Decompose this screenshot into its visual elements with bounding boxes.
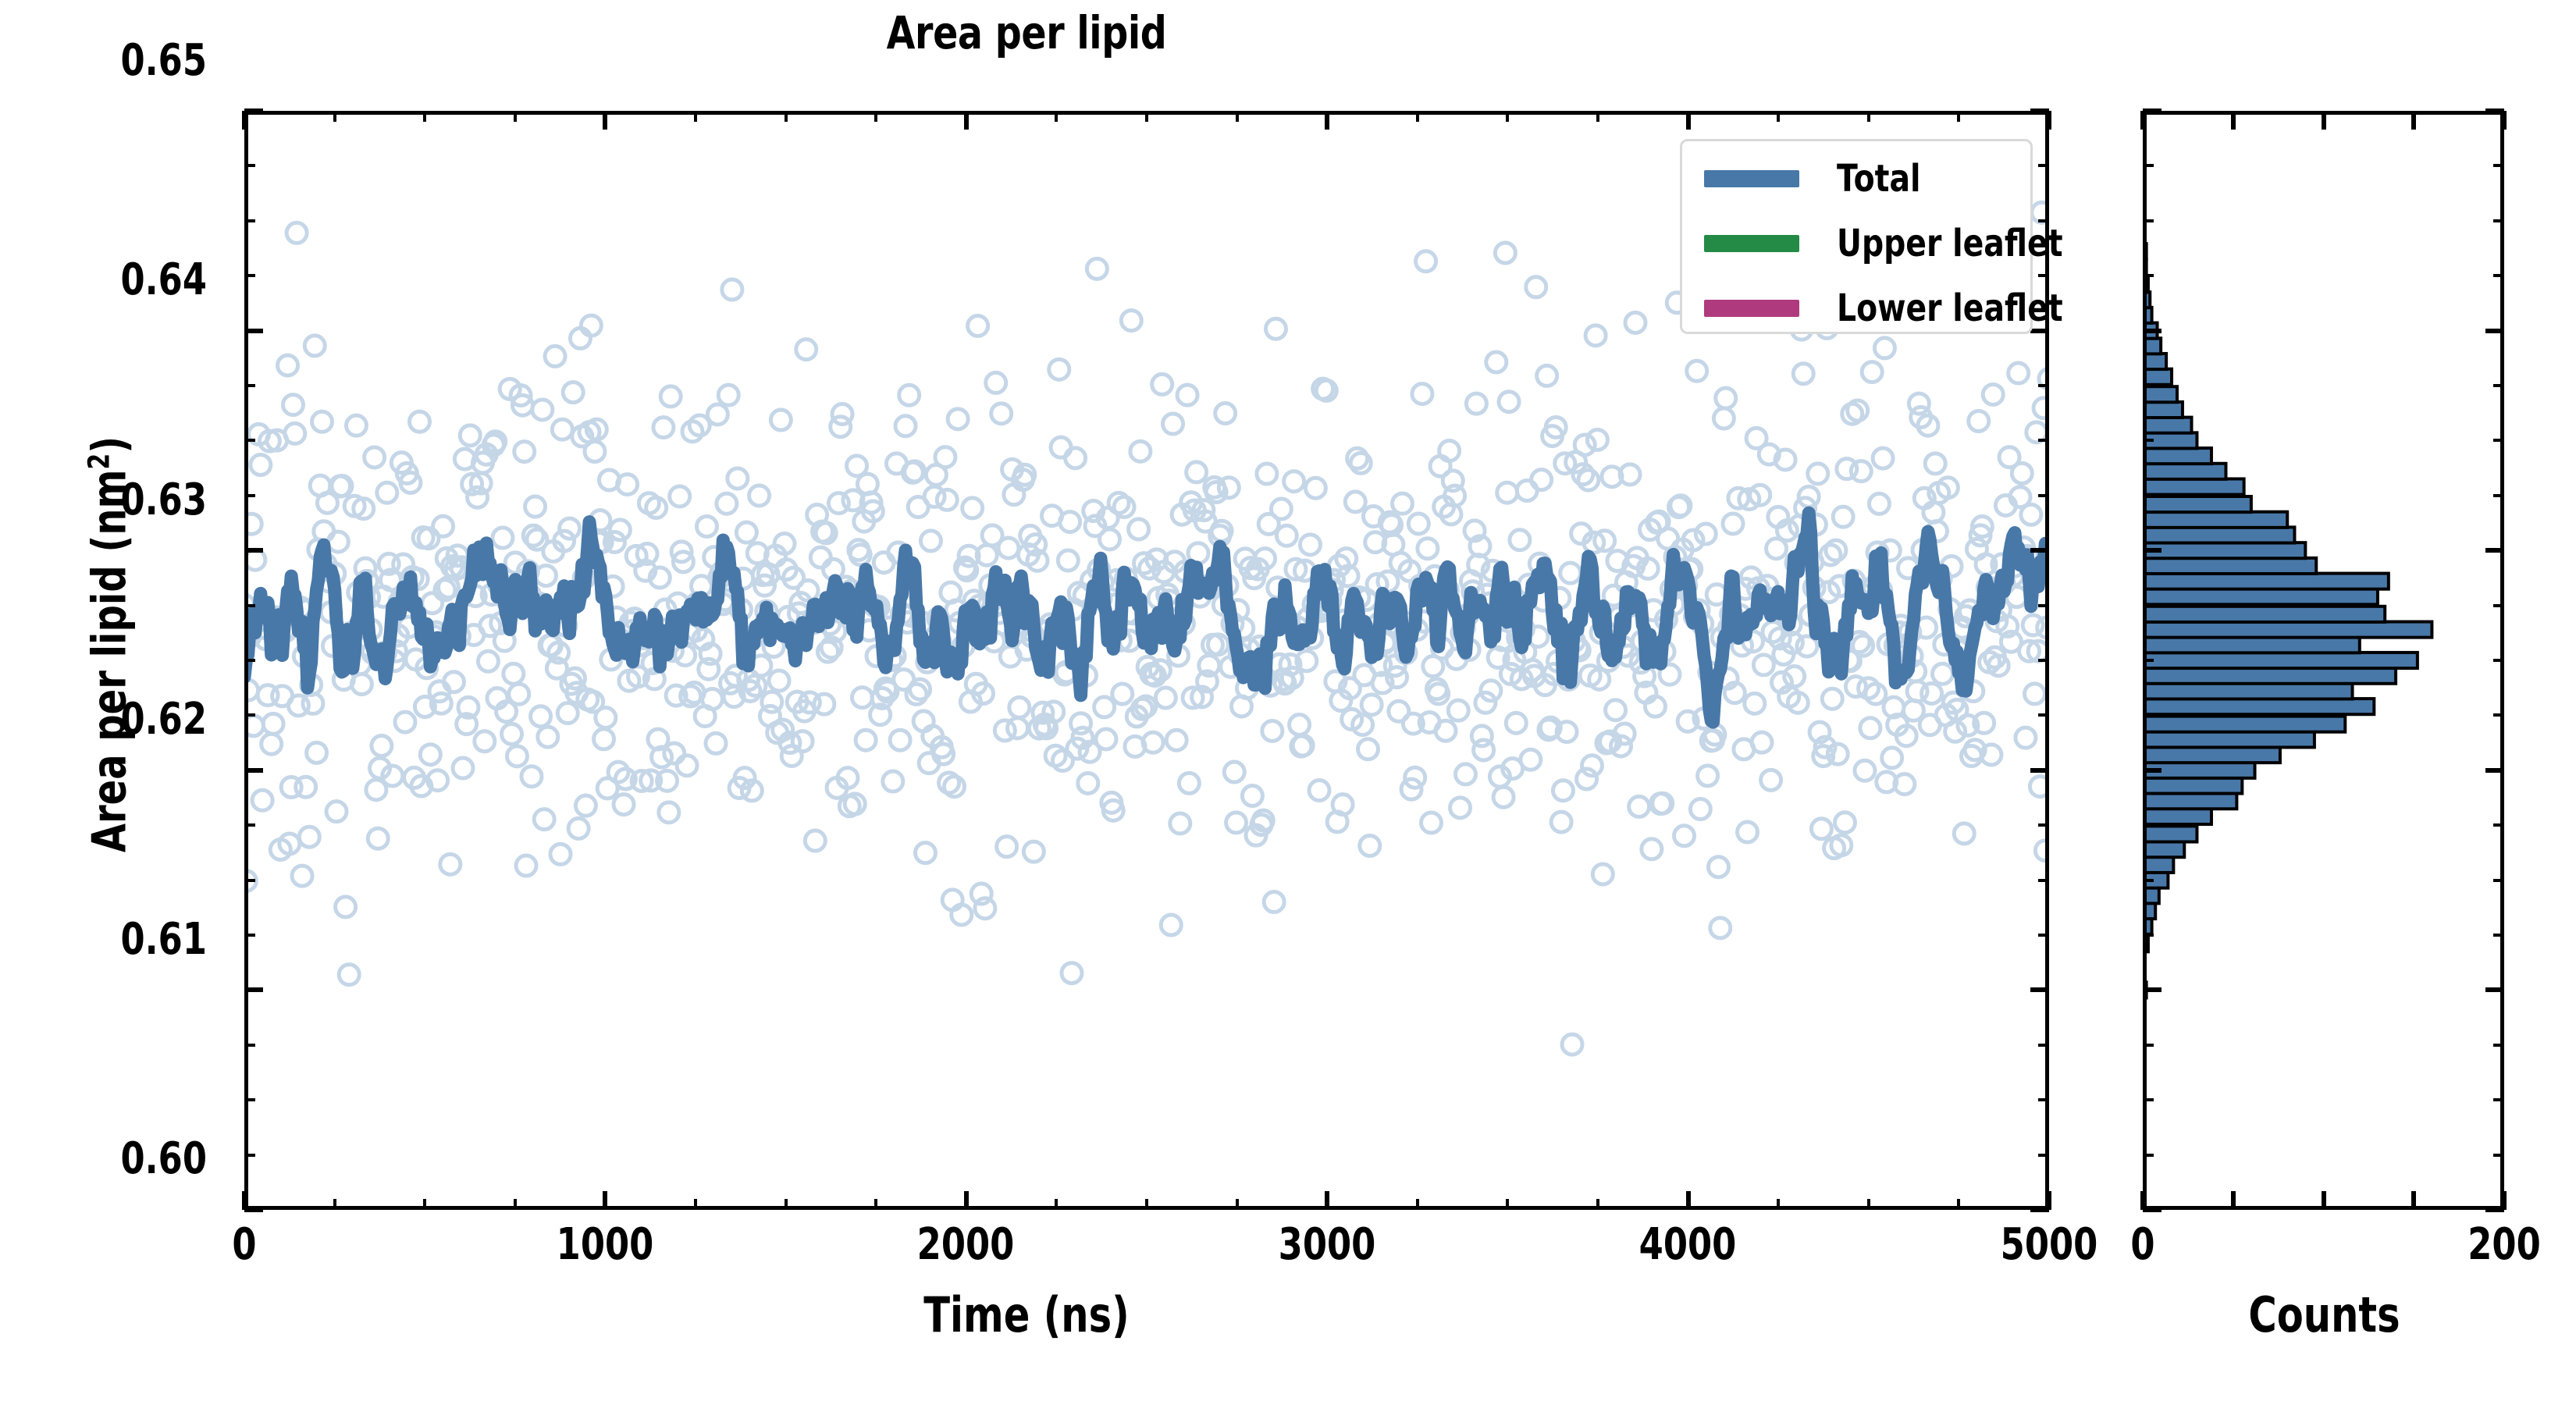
axis-tick: [244, 494, 255, 497]
axis-tick: [2143, 494, 2154, 497]
legend-label-upper-leaflet: Upper leaflet: [1837, 222, 2063, 265]
hist-x-tick-label-200: 200: [2411, 1219, 2576, 1270]
axis-tick: [423, 1199, 426, 1210]
histogram-bar: [2143, 717, 2345, 732]
axis-tick: [1325, 1191, 1329, 1210]
axis-tick: [1957, 1199, 1960, 1210]
histogram-bar: [2143, 182, 2144, 197]
histogram-bar: [2143, 464, 2226, 479]
axis-tick: [244, 659, 255, 662]
axis-tick: [2038, 1044, 2049, 1047]
histogram-bar: [2143, 731, 2314, 747]
axis-tick: [242, 111, 247, 130]
histogram-bar: [2143, 683, 2353, 699]
axis-tick: [333, 1199, 336, 1210]
histogram-bar: [2143, 793, 2236, 809]
axis-tick: [2485, 548, 2504, 553]
histogram-bar: [2143, 276, 2148, 292]
axis-tick: [244, 548, 263, 553]
histogram-bar: [2143, 637, 2360, 653]
hist-x-tick-label-0: 0: [2049, 1219, 2236, 1270]
axis-tick: [1145, 1199, 1148, 1210]
axis-tick: [2493, 439, 2504, 442]
axis-tick: [2038, 384, 2049, 387]
y-tick-label-0.64: 0.64: [57, 254, 207, 305]
histogram-plot-area: [2143, 111, 2504, 1210]
histogram-bar: [2143, 668, 2396, 684]
axis-tick: [2493, 1098, 2504, 1101]
axis-tick: [2143, 659, 2154, 662]
axis-tick: [964, 1191, 969, 1210]
axis-tick: [2143, 768, 2161, 773]
histogram-bar: [2143, 478, 2244, 494]
y-tick-label-0.62: 0.62: [57, 694, 207, 745]
histogram-bar: [2143, 699, 2374, 714]
axis-tick: [2030, 987, 2049, 992]
axis-tick: [2143, 879, 2154, 882]
axis-tick: [244, 823, 255, 827]
axis-tick: [1416, 111, 1419, 122]
axis-tick: [2030, 108, 2049, 113]
y-axis-label-tail: ): [83, 436, 137, 454]
histogram-bar: [2143, 354, 2166, 369]
histogram-bar: [2143, 512, 2287, 528]
axis-tick: [1145, 111, 1148, 122]
axis-tick: [2502, 111, 2507, 130]
axis-tick: [1957, 111, 1960, 122]
axis-tick: [2322, 1191, 2326, 1210]
axis-tick: [2143, 384, 2154, 387]
axis-tick: [2143, 987, 2161, 992]
legend-swatch-lower-leaflet: [1704, 300, 1799, 317]
axis-tick: [244, 934, 255, 937]
histogram-bar: [2143, 967, 2144, 983]
axis-tick: [2493, 659, 2504, 662]
axis-tick: [2038, 659, 2049, 662]
axis-tick: [244, 604, 255, 607]
axis-tick: [2038, 713, 2049, 717]
axis-tick: [2143, 439, 2154, 442]
histogram-bar: [2143, 386, 2177, 402]
axis-tick: [244, 274, 255, 277]
axis-tick: [2493, 164, 2504, 167]
axis-tick: [2143, 1154, 2154, 1157]
axis-tick: [2411, 111, 2416, 130]
axis-tick: [1055, 111, 1058, 122]
axis-tick: [2038, 934, 2049, 937]
histogram-bar: [2143, 418, 2192, 433]
histogram-bar: [2143, 369, 2172, 385]
y-tick-label-0.65: 0.65: [57, 35, 207, 86]
axis-tick: [2143, 823, 2154, 827]
axis-tick: [2143, 1208, 2161, 1212]
axis-tick: [1506, 111, 1509, 122]
axis-tick: [964, 111, 969, 130]
axis-tick: [244, 164, 255, 167]
x-tick-label-0: 0: [151, 1219, 338, 1270]
histogram-bars: [2143, 182, 2432, 1029]
axis-tick: [244, 384, 255, 387]
histogram-bar: [2143, 887, 2159, 903]
axis-tick: [785, 1199, 788, 1210]
axis-tick: [2493, 713, 2504, 717]
axis-tick: [2485, 108, 2504, 113]
histogram-bar: [2143, 338, 2161, 354]
axis-tick: [1055, 1199, 1058, 1210]
y-axis-label-superscript: 2: [82, 454, 116, 470]
x-tick-label-4000: 4000: [1594, 1219, 1781, 1270]
axis-tick: [2047, 111, 2051, 130]
histogram-bar: [2143, 919, 2152, 934]
axis-tick: [2038, 879, 2049, 882]
axis-tick: [603, 111, 607, 130]
axis-tick: [244, 1098, 255, 1101]
axis-tick: [785, 111, 788, 122]
axis-tick: [2143, 164, 2154, 167]
axis-tick: [244, 1044, 255, 1047]
axis-tick: [2485, 329, 2504, 333]
axis-tick: [244, 879, 255, 882]
axis-tick: [1596, 1199, 1599, 1210]
axis-tick: [2038, 494, 2049, 497]
axis-tick: [2411, 1191, 2416, 1210]
axis-tick: [244, 439, 255, 442]
axis-tick: [1777, 1199, 1780, 1210]
axis-tick: [1416, 1199, 1419, 1210]
axis-tick: [2493, 604, 2504, 607]
histogram-bar: [2143, 1013, 2144, 1029]
axis-tick: [2143, 548, 2161, 553]
axis-tick: [2493, 1044, 2504, 1047]
histogram-bar: [2143, 857, 2173, 873]
histogram-bar: [2143, 606, 2385, 622]
histogram-bar: [2143, 826, 2197, 841]
legend-label-total: Total: [1837, 157, 1921, 201]
axis-tick: [1867, 111, 1870, 122]
axis-tick: [2485, 987, 2504, 992]
axis-tick: [694, 111, 697, 122]
axis-tick: [694, 1199, 697, 1210]
histogram-bar: [2143, 936, 2148, 951]
axis-tick: [2493, 1154, 2504, 1157]
x-tick-label-3000: 3000: [1233, 1219, 1421, 1270]
histogram-bar: [2143, 903, 2155, 919]
legend[interactable]: Total Upper leaflet Lower leaflet: [1680, 139, 2033, 334]
axis-tick: [1777, 111, 1780, 122]
hist-x-axis-label: Counts: [2179, 1286, 2470, 1343]
axis-tick: [2143, 219, 2154, 222]
axis-tick: [2493, 384, 2504, 387]
axis-tick: [514, 1199, 517, 1210]
axis-tick: [244, 219, 255, 222]
axis-tick: [2143, 1044, 2154, 1047]
histogram-bar: [2143, 777, 2242, 793]
histogram-bar: [2143, 527, 2294, 542]
axis-tick: [2038, 823, 2049, 827]
histogram-bar: [2143, 747, 2280, 763]
axis-tick: [2485, 1208, 2504, 1212]
axis-tick: [244, 1208, 263, 1212]
histogram-bar: [2143, 542, 2305, 558]
histogram-bar: [2143, 402, 2183, 418]
axis-tick: [1236, 111, 1239, 122]
axis-tick: [2493, 934, 2504, 937]
legend-entry-total[interactable]: Total: [1704, 157, 1939, 201]
axis-tick: [2143, 1098, 2154, 1101]
histogram-bar: [2143, 308, 2152, 323]
legend-swatch-total: [1704, 170, 1799, 187]
axis-tick: [244, 987, 263, 992]
legend-label-lower-leaflet: Lower leaflet: [1837, 286, 2063, 330]
histogram-bar: [2143, 244, 2147, 259]
axis-tick: [1686, 111, 1691, 130]
axis-tick: [2485, 768, 2504, 773]
axis-tick: [2493, 879, 2504, 882]
y-tick-label-0.60: 0.60: [57, 1133, 207, 1184]
legend-entry-lower-leaflet[interactable]: Lower leaflet: [1704, 286, 2112, 330]
axis-tick: [244, 329, 263, 333]
axis-tick: [1325, 111, 1329, 130]
axis-tick: [2143, 713, 2154, 717]
axis-tick: [2143, 108, 2161, 113]
x-tick-label-2000: 2000: [872, 1219, 1059, 1270]
axis-tick: [2143, 329, 2161, 333]
axis-tick: [2493, 274, 2504, 277]
axis-tick: [2231, 1191, 2236, 1210]
axis-tick: [1236, 1199, 1239, 1210]
axis-tick: [1686, 1191, 1691, 1210]
axis-tick: [2038, 604, 2049, 607]
histogram-bar: [2143, 574, 2389, 589]
axis-tick: [603, 1191, 607, 1210]
axis-tick: [2038, 1154, 2049, 1157]
figure-canvas: Area per lipid Area per lipid (nm2) 0.65…: [0, 0, 2576, 1405]
axis-tick: [2030, 768, 2049, 773]
histogram-bar: [2143, 589, 2378, 604]
axis-tick: [2038, 274, 2049, 277]
axis-tick: [2038, 439, 2049, 442]
axis-tick: [333, 111, 336, 122]
axis-tick: [874, 1199, 877, 1210]
x-axis-label: Time (ns): [205, 1286, 1848, 1343]
y-tick-label-0.61: 0.61: [57, 914, 207, 965]
axis-tick: [2030, 1208, 2049, 1212]
legend-swatch-upper-leaflet: [1704, 235, 1799, 252]
y-axis-label: Area per lipid (nm2): [82, 333, 137, 957]
histogram-bar: [2143, 809, 2211, 824]
axis-tick: [244, 768, 263, 773]
axis-tick: [2030, 548, 2049, 553]
axis-tick: [1506, 1199, 1509, 1210]
axis-tick: [2140, 111, 2145, 130]
axis-tick: [2231, 111, 2236, 130]
histogram-bar: [2143, 496, 2251, 512]
y-tick-label-0.63: 0.63: [57, 475, 207, 525]
axis-tick: [2143, 604, 2154, 607]
axis-tick: [244, 1154, 255, 1157]
histogram-bar: [2143, 558, 2316, 574]
axis-tick: [1867, 1199, 1870, 1210]
axis-tick: [244, 108, 263, 113]
axis-tick: [2038, 1098, 2049, 1101]
legend-entry-upper-leaflet[interactable]: Upper leaflet: [1704, 222, 2112, 265]
histogram-bar: [2143, 292, 2150, 308]
histogram-bar: [2143, 653, 2418, 668]
axis-tick: [2493, 219, 2504, 222]
axis-tick: [2493, 494, 2504, 497]
histogram-bar: [2143, 622, 2432, 638]
axis-tick: [2143, 274, 2154, 277]
axis-tick: [2493, 823, 2504, 827]
axis-tick: [2038, 164, 2049, 167]
axis-tick: [2322, 111, 2326, 130]
histogram-bar: [2143, 448, 2211, 464]
axis-tick: [423, 111, 426, 122]
axis-tick: [514, 111, 517, 122]
axis-tick: [2143, 934, 2154, 937]
histogram-bar: [2143, 228, 2144, 244]
x-tick-label-1000: 1000: [511, 1219, 699, 1270]
page-title: Area per lipid: [185, 6, 1869, 59]
y-axis-label-text: Area per lipid (nm: [83, 469, 137, 852]
axis-tick: [874, 111, 877, 122]
histogram-bar: [2143, 259, 2147, 275]
axis-tick: [244, 713, 255, 717]
axis-tick: [1596, 111, 1599, 122]
histogram-bar: [2143, 841, 2184, 857]
